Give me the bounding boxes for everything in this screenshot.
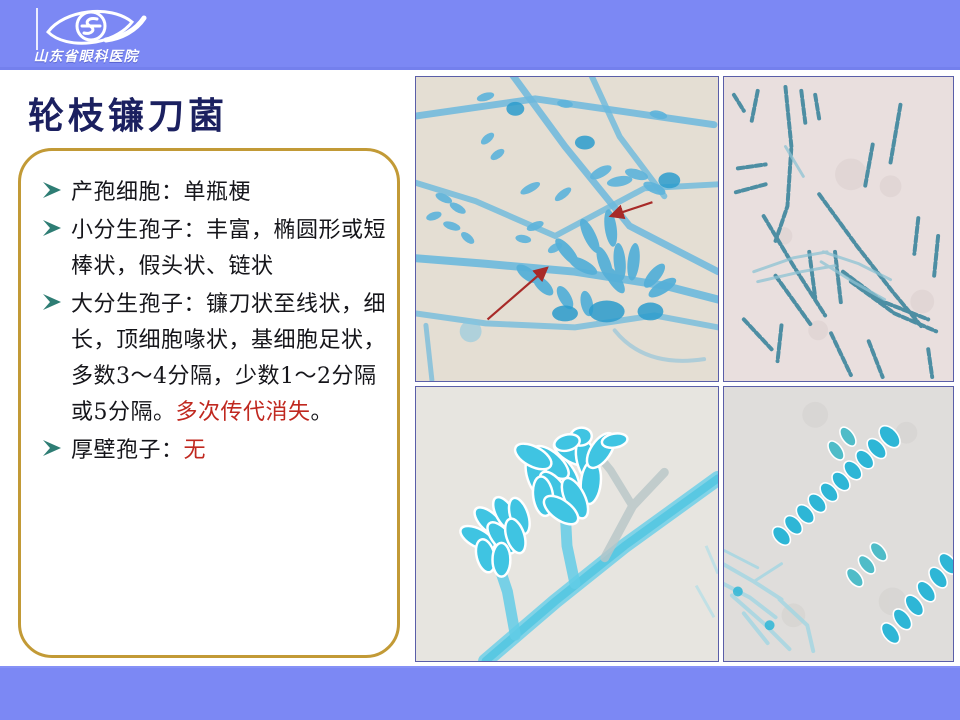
page-title: 轮枝镰刀菌 <box>28 96 228 136</box>
slide-root: 山东省眼科医院 轮枝镰刀菌 产孢细胞：单瓶梗小分生孢子：丰富，椭圆形或短棒状，假… <box>0 0 960 720</box>
bullet-text-chlamydospore: 厚壁孢子：无 <box>71 433 387 469</box>
microscopy-image-bottom-right <box>723 386 954 662</box>
arrow-bullet-icon <box>41 293 71 329</box>
microscopy-image-grid <box>415 76 954 662</box>
arrow-bullet-icon <box>41 181 71 217</box>
hospital-logo: 山东省眼科医院 <box>18 2 154 68</box>
highlighted-text: 无 <box>184 438 207 463</box>
footer-band <box>0 666 960 720</box>
logo-divider <box>36 8 38 50</box>
header-band: 山东省眼科医院 <box>0 0 960 70</box>
eye-logo-icon <box>44 6 148 50</box>
content-rounded-box: 产孢细胞：单瓶梗小分生孢子：丰富，椭圆形或短棒状，假头状、链状大分生孢子：镰刀状… <box>18 148 400 658</box>
plain-text: 小分生孢子：丰富，椭圆形或短棒状，假头状、链状 <box>71 218 386 279</box>
plain-text: 产孢细胞：单瓶梗 <box>71 180 251 205</box>
microscopy-image-top-right <box>723 76 954 382</box>
bullet-text-conidiogenous-cell: 产孢细胞：单瓶梗 <box>71 175 387 211</box>
bullet-item-microconidia: 小分生孢子：丰富，椭圆形或短棒状，假头状、链状 <box>41 213 387 285</box>
bullet-list: 产孢细胞：单瓶梗小分生孢子：丰富，椭圆形或短棒状，假头状、链状大分生孢子：镰刀状… <box>41 175 387 471</box>
microscopy-image-bottom-left <box>415 386 719 662</box>
bullet-item-chlamydospore: 厚壁孢子：无 <box>41 433 387 469</box>
bullet-text-microconidia: 小分生孢子：丰富，椭圆形或短棒状，假头状、链状 <box>71 213 387 285</box>
arrow-bullet-icon <box>41 219 71 255</box>
plain-text: 。 <box>311 400 334 425</box>
logo-institution-name: 山东省眼科医院 <box>18 46 154 68</box>
arrow-bullet-icon <box>41 439 71 475</box>
plain-text: 厚壁孢子： <box>71 438 184 463</box>
microscopy-image-top-left <box>415 76 719 382</box>
highlighted-text: 多次传代消失 <box>176 400 311 425</box>
bullet-text-macroconidia: 大分生孢子：镰刀状至线状，细长，顶细胞喙状，基细胞足状，多数3～4分隔，少数1～… <box>71 287 387 431</box>
bullet-item-macroconidia: 大分生孢子：镰刀状至线状，细长，顶细胞喙状，基细胞足状，多数3～4分隔，少数1～… <box>41 287 387 431</box>
bullet-item-conidiogenous-cell: 产孢细胞：单瓶梗 <box>41 175 387 211</box>
